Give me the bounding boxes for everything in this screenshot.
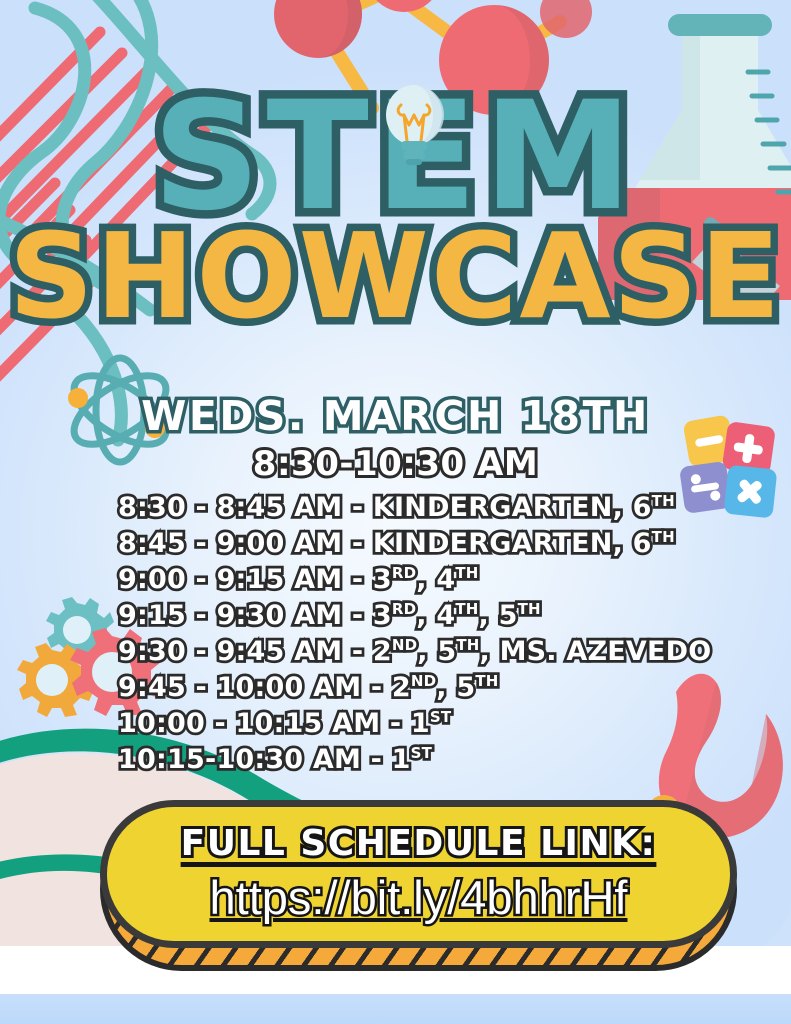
schedule-text: 9:15 - 9:30 AM - 3 bbox=[118, 600, 392, 631]
schedule-row-3: 9:00 - 9:15 AM - 3RD, 4TH bbox=[118, 564, 758, 596]
schedule-text-2: , 4 bbox=[416, 600, 455, 631]
ordinal-suffix: ST bbox=[430, 708, 451, 726]
ordinal-suffix-2: TH bbox=[456, 636, 479, 654]
ordinal-suffix: ST bbox=[411, 744, 432, 762]
ordinal-suffix-3: TH bbox=[518, 600, 541, 618]
title-showcase: SHOWCASE bbox=[0, 217, 791, 335]
ordinal-suffix: TH bbox=[652, 528, 675, 546]
schedule-text: 10:15-10:30 AM - 1 bbox=[118, 744, 411, 775]
link-button-label: FULL SCHEDULE LINK: bbox=[181, 823, 657, 864]
event-date: WEDS. MARCH 18TH bbox=[0, 392, 791, 440]
ordinal-suffix: ND bbox=[411, 672, 436, 690]
schedule-text: 9:45 - 10:00 AM - 2 bbox=[118, 672, 411, 703]
schedule-text: 9:00 - 9:15 AM - 3 bbox=[118, 564, 392, 595]
event-time-range: 8:30-10:30 AM bbox=[0, 444, 791, 484]
schedule-row-8: 10:15-10:30 AM - 1ST bbox=[118, 744, 758, 776]
schedule-row-2: 8:45 - 9:00 AM - KINDERGARTEN, 6TH bbox=[118, 528, 758, 560]
schedule-row-1: 8:30 - 8:45 AM - KINDERGARTEN, 6TH bbox=[118, 492, 758, 524]
lightbulb-icon bbox=[383, 83, 445, 165]
schedule-text: 8:45 - 9:00 AM - KINDERGARTEN, 6 bbox=[118, 528, 652, 559]
schedule-row-7: 10:00 - 10:15 AM - 1ST bbox=[118, 708, 758, 740]
schedule-text-2: , 5 bbox=[417, 636, 456, 667]
ordinal-suffix: ND bbox=[392, 636, 417, 654]
schedule-text: 8:30 - 8:45 AM - KINDERGARTEN, 6 bbox=[118, 492, 652, 523]
schedule-text: 10:00 - 10:15 AM - 1 bbox=[118, 708, 430, 739]
full-schedule-link-button[interactable]: FULL SCHEDULE LINK: https://bit.ly/4bhhr… bbox=[100, 800, 737, 948]
schedule-text: 9:30 - 9:45 AM - 2 bbox=[118, 636, 392, 667]
schedule-text-2: , 4 bbox=[416, 564, 455, 595]
link-button-url[interactable]: https://bit.ly/4bhhrHf bbox=[210, 870, 628, 925]
stem-showcase-poster: STEM SHOWCASE WEDS. MARCH 18TH 8:30-10:3… bbox=[0, 0, 791, 1024]
schedule-text-2: , 5 bbox=[436, 672, 475, 703]
schedule-text-3: , MS. AZEVEDO bbox=[480, 636, 712, 667]
schedule-row-4: 9:15 - 9:30 AM - 3RD, 4TH, 5TH bbox=[118, 600, 758, 632]
schedule-row-6: 9:45 - 10:00 AM - 2ND, 5TH bbox=[118, 672, 758, 704]
schedule-text-3: , 5 bbox=[479, 600, 518, 631]
ordinal-suffix: RD bbox=[392, 600, 416, 618]
schedule-row-5: 9:30 - 9:45 AM - 2ND, 5TH, MS. AZEVEDO bbox=[118, 636, 758, 668]
ordinal-suffix: RD bbox=[392, 564, 416, 582]
ordinal-suffix-2: TH bbox=[455, 600, 478, 618]
ordinal-suffix-2: TH bbox=[455, 564, 478, 582]
schedule-list: 8:30 - 8:45 AM - KINDERGARTEN, 6TH 8:45 … bbox=[118, 492, 758, 780]
ordinal-suffix-2: TH bbox=[475, 672, 498, 690]
ordinal-suffix: TH bbox=[652, 492, 675, 510]
bottom-blue-band bbox=[0, 994, 791, 1024]
